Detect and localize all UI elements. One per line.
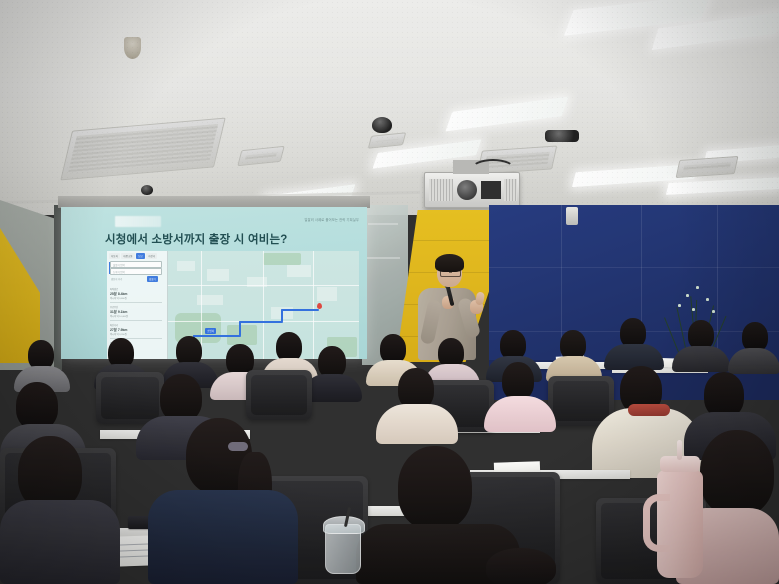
transport-mode-tabs: 자동차 대중교통 도보 자전거 [109, 253, 157, 259]
fire-sprinkler-icon [124, 37, 141, 59]
search-route-button[interactable]: 길찾기 [147, 276, 158, 282]
slide-corner-note: 일잘러 사례로 풀어보는 전략 기획실무 [305, 217, 359, 222]
tab-walk[interactable]: 도보 [136, 253, 145, 259]
attendee-head [16, 382, 58, 430]
ceiling-light [572, 164, 698, 187]
attendee-head [486, 548, 556, 584]
ac-vent [368, 132, 406, 148]
tab-bike[interactable]: 자전거 [146, 253, 157, 259]
attendee-shoulders [376, 404, 458, 444]
tab-transit[interactable]: 대중교통 [121, 253, 134, 259]
map-route-planner: 소방서 자동차 대중교통 도보 자전거 출발지 입력 도착지 입력 경유지 [107, 251, 359, 359]
attendee-head [502, 362, 534, 400]
ceiling-light [652, 12, 779, 50]
dome-camera-icon [372, 117, 392, 133]
map-route-label: 소방서 [205, 328, 216, 334]
ceiling [0, 0, 779, 215]
destination-placeholder: 도착지 입력 [113, 270, 125, 274]
ceiling-light [564, 0, 710, 36]
chair[interactable] [246, 370, 312, 420]
result-sub: 택시비 약 9,200원 [110, 332, 162, 336]
destination-input[interactable]: 도착지 입력 [110, 268, 162, 275]
attendee-shoulders [728, 348, 779, 374]
result-main: 25분 8.4km [110, 291, 162, 296]
projector [424, 172, 520, 208]
attendee-head [18, 436, 82, 510]
projector-cable [471, 159, 515, 179]
destination-pin-icon [317, 303, 322, 309]
plastic-cup[interactable] [325, 524, 361, 574]
attendee-shoulders [672, 346, 730, 372]
wall-speaker [566, 207, 578, 225]
ac-vent [676, 156, 739, 178]
origin-placeholder: 출발지 입력 [113, 263, 125, 267]
lecture-hall-photo: 일잘러 사례로 풀어보는 전략 기획실무 시청에서 소방서까지 출장 시 여비는… [0, 0, 779, 584]
tab-car[interactable]: 자동차 [109, 253, 120, 259]
dome-camera-icon [545, 130, 579, 142]
result-sub: 택시비 약 9,800원 [110, 296, 162, 300]
attendee-head [398, 446, 472, 530]
tumbler[interactable] [657, 470, 703, 578]
slide-title: 시청에서 소방서까지 출장 시 여비는? [105, 231, 288, 247]
ceiling-light [445, 96, 568, 131]
origin-input[interactable]: 출발지 입력 [110, 261, 162, 268]
tumbler-handle [643, 494, 670, 552]
projection-screen: 일잘러 사례로 풀어보는 전략 기획실무 시청에서 소방서까지 출장 시 여비는… [61, 207, 367, 359]
ac-vent [237, 146, 284, 166]
projector-lens [457, 180, 477, 200]
chair[interactable] [96, 372, 164, 424]
ac-vent [60, 118, 226, 181]
projector-panel [481, 181, 501, 199]
route-result-item[interactable]: 무료우선 31분 9.1km 택시비 약 10,400원 [110, 305, 162, 318]
tumbler-straw [677, 440, 682, 460]
collar [628, 404, 670, 416]
result-main: 31분 9.1km [110, 309, 162, 314]
projector-vent [429, 179, 453, 201]
result-main: 27분 7.9km [110, 327, 162, 332]
result-sub: 택시비 약 10,400원 [110, 314, 162, 318]
waypoint-label[interactable]: 경유지 추가 [111, 277, 122, 281]
attendee-shoulders [484, 396, 556, 432]
route-result-item[interactable]: 최적경로 25분 8.4km 택시비 약 9,800원 [110, 287, 162, 300]
attendee-head [700, 430, 774, 516]
hair-tie [228, 442, 248, 451]
route-result-item[interactable]: 최단거리 27분 7.9km 택시비 약 9,200원 [110, 323, 162, 336]
projector-vent [504, 179, 517, 201]
dome-camera-icon [141, 185, 153, 195]
ceiling-light [704, 145, 779, 164]
presenter-hair [435, 254, 464, 272]
attendee-shoulders [0, 500, 120, 584]
slide-logo [115, 216, 161, 227]
attendee-shoulders [148, 490, 298, 584]
ceiling-light [666, 177, 779, 195]
attendee-head [160, 374, 202, 422]
